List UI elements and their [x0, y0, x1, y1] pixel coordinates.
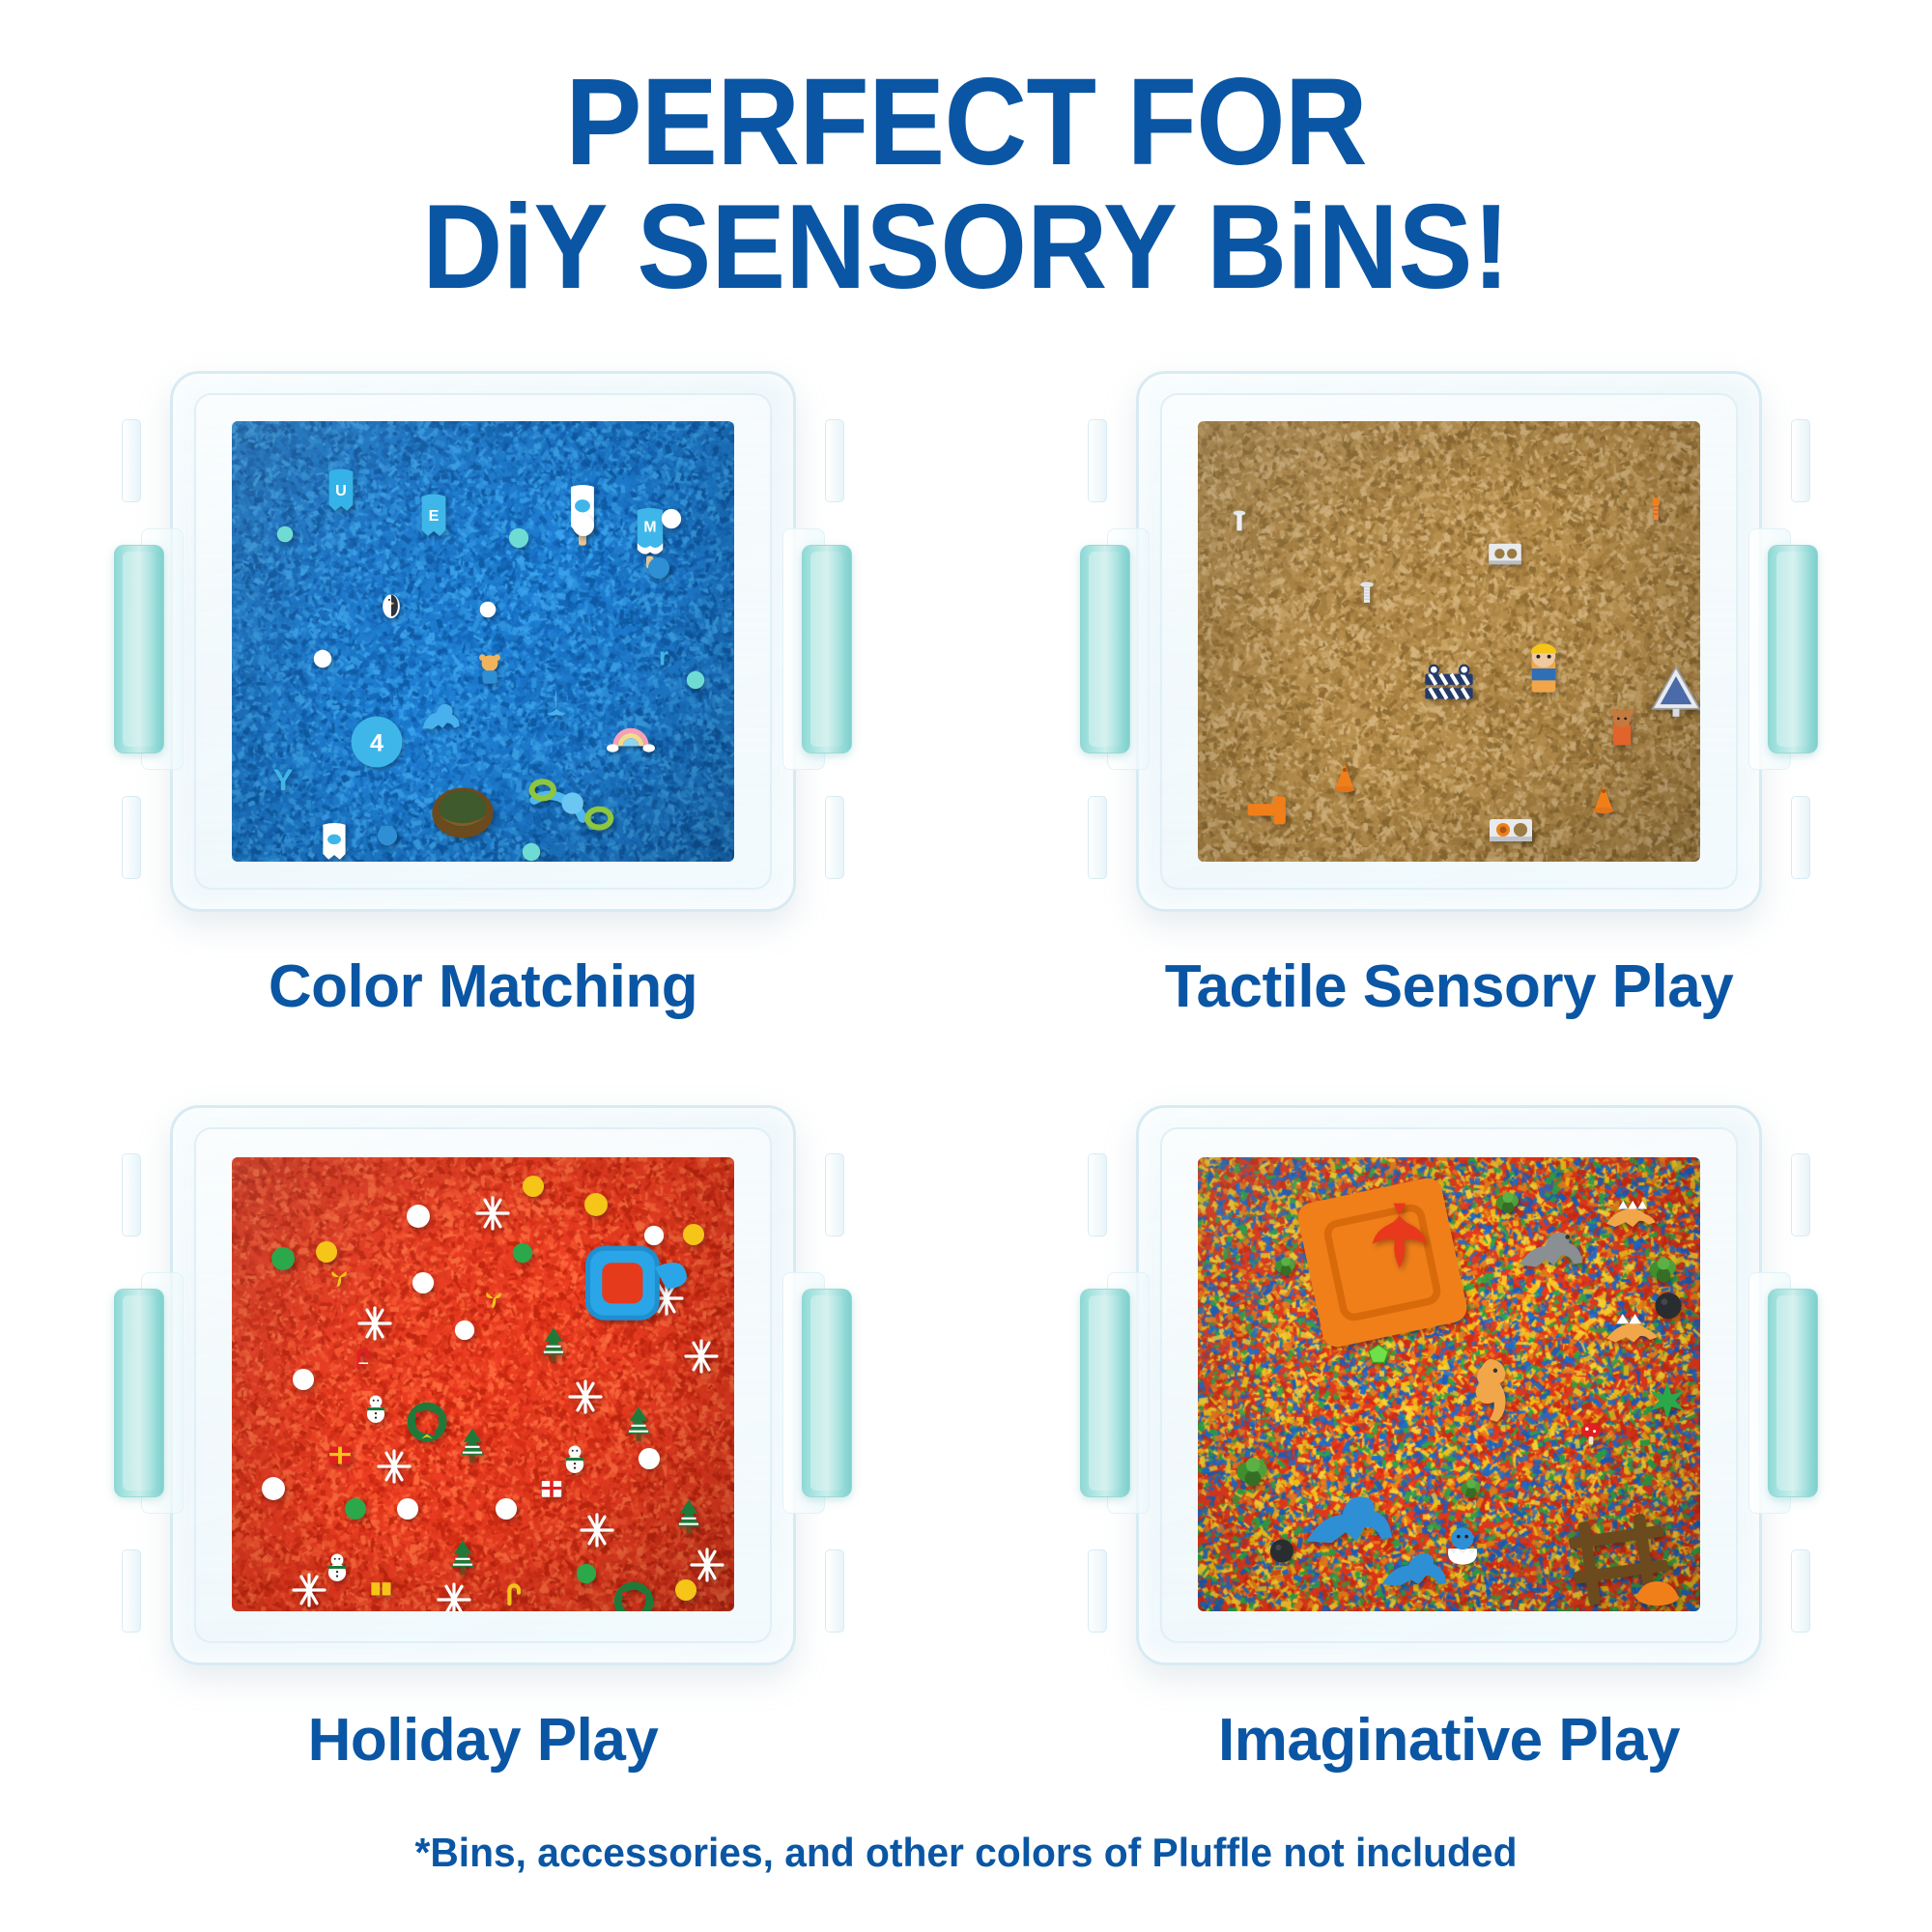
pluffle-fill-red: [232, 1157, 734, 1611]
bin-latch-handle-left[interactable]: [114, 1289, 164, 1497]
headline-line-1: PERFECT FOR: [68, 60, 1864, 186]
bin-rib-icon: [1791, 1549, 1810, 1633]
bin-rib-icon: [122, 419, 141, 502]
bin-latch-handle-right[interactable]: [802, 1289, 852, 1497]
bin-caption-1: Color Matching: [269, 952, 697, 1021]
bin-caption-2: Tactile Sensory Play: [1165, 952, 1733, 1021]
bin-caption-4: Imaginative Play: [1218, 1706, 1680, 1775]
bin-latch-handle-right[interactable]: [1768, 545, 1818, 753]
bin-rib-icon: [122, 1549, 141, 1633]
bin-rib-icon: [1088, 796, 1107, 879]
bin-rib-icon: [122, 1153, 141, 1236]
headline-block: PERFECT FOR DiY SENSORY BiNS!: [0, 0, 1932, 308]
bin-rib-icon: [1791, 1153, 1810, 1236]
bin-cell-holiday-play: Holiday Play: [0, 1094, 966, 1828]
bin-rib-icon: [825, 1153, 844, 1236]
bin-latch-handle-left[interactable]: [1080, 545, 1130, 753]
pluffle-fill-blue: UEM4rYt: [232, 421, 734, 862]
bin-cell-imaginative-play: Imaginative Play: [966, 1094, 1932, 1828]
sensory-bin-container-1: UEM4rYt: [87, 359, 879, 939]
pluffle-fill-tan: [1198, 421, 1700, 862]
bin-latch-handle-right[interactable]: [802, 545, 852, 753]
bin-cell-color-matching: UEM4rYt Color Matching: [0, 359, 966, 1094]
bin-caption-3: Holiday Play: [308, 1706, 659, 1775]
bin-rib-icon: [825, 796, 844, 879]
sensory-bin-container-2: [1053, 359, 1845, 939]
sensory-bin-container-3: [87, 1094, 879, 1692]
bin-rib-icon: [825, 419, 844, 502]
bin-rib-icon: [122, 796, 141, 879]
sensory-bin-grid: UEM4rYt Color Matching Tactile Sensory P…: [0, 359, 1932, 1828]
pluffle-fill-rainbow: [1198, 1157, 1700, 1611]
headline-line-2: DiY SENSORY BiNS!: [68, 186, 1864, 308]
bin-rib-icon: [1088, 419, 1107, 502]
bin-rib-icon: [1088, 1153, 1107, 1236]
bin-latch-handle-left[interactable]: [1080, 1289, 1130, 1497]
disclaimer-footnote: *Bins, accessories, and other colors of …: [29, 1830, 1903, 1876]
bin-rib-icon: [1791, 796, 1810, 879]
bin-rib-icon: [1791, 419, 1810, 502]
sensory-bin-container-4: [1053, 1094, 1845, 1692]
bin-latch-handle-left[interactable]: [114, 545, 164, 753]
bin-rib-icon: [1088, 1549, 1107, 1633]
bin-cell-tactile-sensory-play: Tactile Sensory Play: [966, 359, 1932, 1094]
bin-latch-handle-right[interactable]: [1768, 1289, 1818, 1497]
bin-rib-icon: [825, 1549, 844, 1633]
